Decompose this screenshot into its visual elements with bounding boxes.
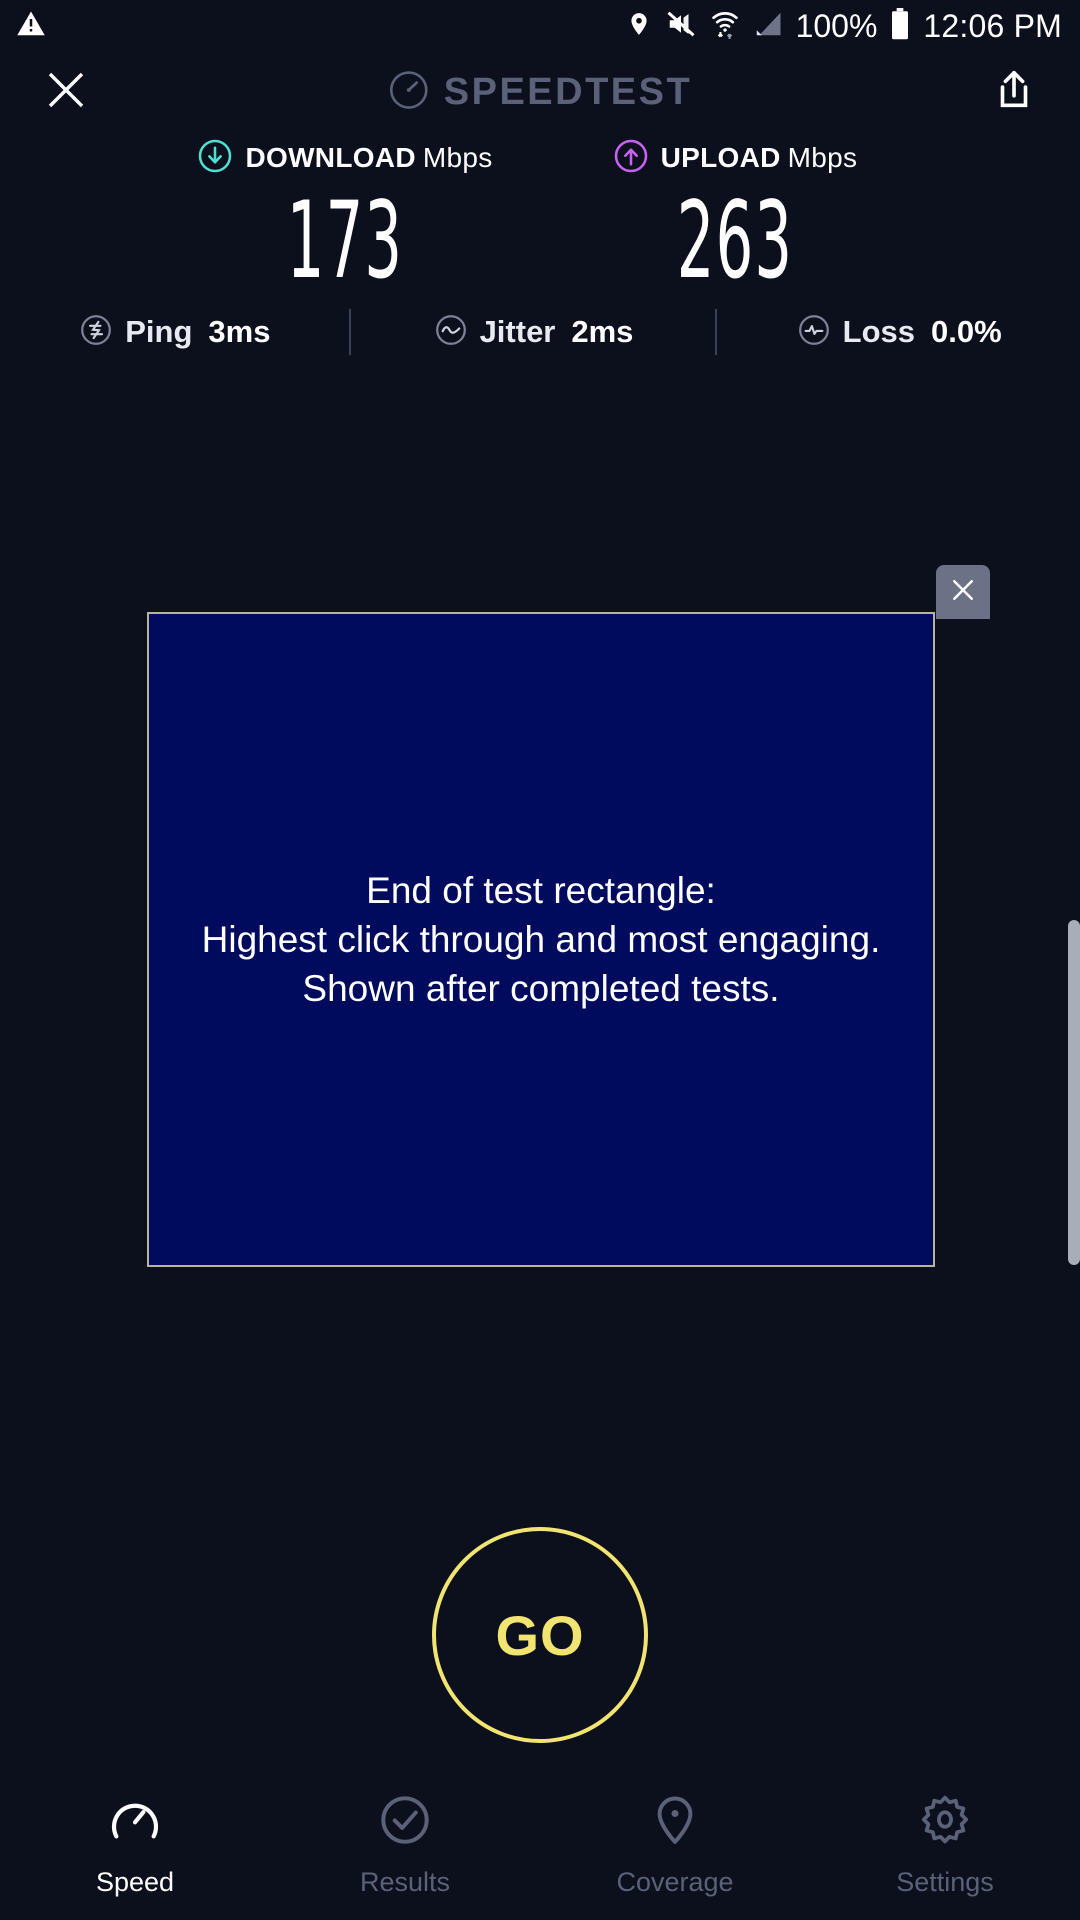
- loss-icon: [796, 312, 832, 353]
- nav-label-settings: Settings: [896, 1867, 994, 1898]
- nav-item-coverage[interactable]: Coverage: [540, 1792, 810, 1898]
- upload-header: UPLOADMbps: [613, 138, 858, 178]
- speedtest-app: 100% 12:06 PM SPEEDTEST: [0, 0, 1080, 1920]
- brand-logo: SPEEDTEST: [388, 69, 692, 116]
- close-button[interactable]: [34, 60, 98, 124]
- share-icon: [991, 67, 1037, 118]
- status-bar: 100% 12:06 PM: [0, 0, 1080, 52]
- upload-label-text: UPLOAD: [661, 142, 781, 173]
- ping-value: 3ms: [208, 314, 270, 350]
- jitter-icon: [433, 312, 469, 353]
- download-arrow-icon: [197, 138, 233, 179]
- results-panel: DOWNLOADMbps 173 UPLOADMbps 263: [0, 138, 1080, 294]
- warning-triangle-icon: [16, 9, 46, 44]
- gear-icon: [917, 1792, 973, 1853]
- upload-label: UPLOADMbps: [661, 142, 858, 174]
- close-icon: [948, 575, 978, 610]
- map-pin-icon: [647, 1792, 703, 1853]
- jitter-value: 2ms: [571, 314, 633, 350]
- ping-cell: Ping 3ms: [0, 312, 349, 353]
- bottom-nav: Speed Results Coverage Settings: [0, 1780, 1080, 1920]
- loss-value: 0.0%: [931, 314, 1002, 350]
- go-button-label: GO: [495, 1603, 584, 1668]
- nav-item-results[interactable]: Results: [270, 1792, 540, 1898]
- download-metric: DOWNLOADMbps 173: [150, 138, 540, 294]
- share-button[interactable]: [982, 60, 1046, 124]
- scrollbar[interactable]: [1068, 920, 1080, 1265]
- nav-label-results: Results: [360, 1867, 450, 1898]
- ad-line-2: Highest click through and most engaging.: [202, 915, 881, 964]
- download-header: DOWNLOADMbps: [197, 138, 492, 178]
- app-header: SPEEDTEST: [0, 52, 1080, 132]
- ping-label: Ping: [125, 314, 192, 350]
- speedometer-icon: [388, 69, 430, 116]
- upload-unit: Mbps: [788, 142, 858, 173]
- loss-cell: Loss 0.0%: [717, 312, 1080, 353]
- upload-arrow-icon: [613, 138, 649, 179]
- ad-line-3: Shown after completed tests.: [202, 964, 881, 1013]
- cell-signal-icon: [753, 9, 783, 44]
- jitter-label: Jitter: [480, 314, 556, 350]
- ad-text: End of test rectangle: Highest click thr…: [202, 866, 881, 1014]
- download-label-text: DOWNLOAD: [245, 142, 415, 173]
- wifi-data-icon: [710, 8, 740, 45]
- ping-icon: [78, 312, 114, 353]
- speed-metrics: DOWNLOADMbps 173 UPLOADMbps 263: [0, 138, 1080, 294]
- nav-item-settings[interactable]: Settings: [810, 1792, 1080, 1898]
- download-value: 173: [287, 188, 404, 294]
- clock: 12:06 PM: [923, 8, 1062, 45]
- loss-label: Loss: [843, 314, 915, 350]
- nav-label-speed: Speed: [96, 1867, 174, 1898]
- network-quality-row: Ping 3ms Jitter 2ms Loss 0.0%: [0, 305, 1080, 359]
- status-bar-left: [16, 9, 46, 44]
- advertisement[interactable]: End of test rectangle: Highest click thr…: [147, 612, 935, 1267]
- close-icon: [42, 66, 90, 119]
- battery-full-icon: [890, 8, 910, 45]
- go-button[interactable]: GO: [432, 1527, 648, 1743]
- jitter-cell: Jitter 2ms: [351, 312, 716, 353]
- ad-line-1: End of test rectangle:: [202, 866, 881, 915]
- check-circle-icon: [377, 1792, 433, 1853]
- download-unit: Mbps: [423, 142, 493, 173]
- upload-metric: UPLOADMbps 263: [540, 138, 930, 294]
- ad-close-button[interactable]: [936, 565, 990, 619]
- volume-muted-icon: [665, 9, 697, 44]
- download-label: DOWNLOADMbps: [245, 142, 492, 174]
- ad-content[interactable]: End of test rectangle: Highest click thr…: [147, 612, 935, 1267]
- status-bar-right: 100% 12:06 PM: [626, 8, 1062, 45]
- upload-value: 263: [677, 188, 794, 294]
- battery-percent: 100%: [796, 8, 878, 45]
- nav-item-speed[interactable]: Speed: [0, 1792, 270, 1898]
- location-pin-icon: [626, 9, 652, 44]
- speedometer-icon: [107, 1792, 163, 1853]
- nav-label-coverage: Coverage: [616, 1867, 733, 1898]
- brand-title: SPEEDTEST: [444, 71, 692, 114]
